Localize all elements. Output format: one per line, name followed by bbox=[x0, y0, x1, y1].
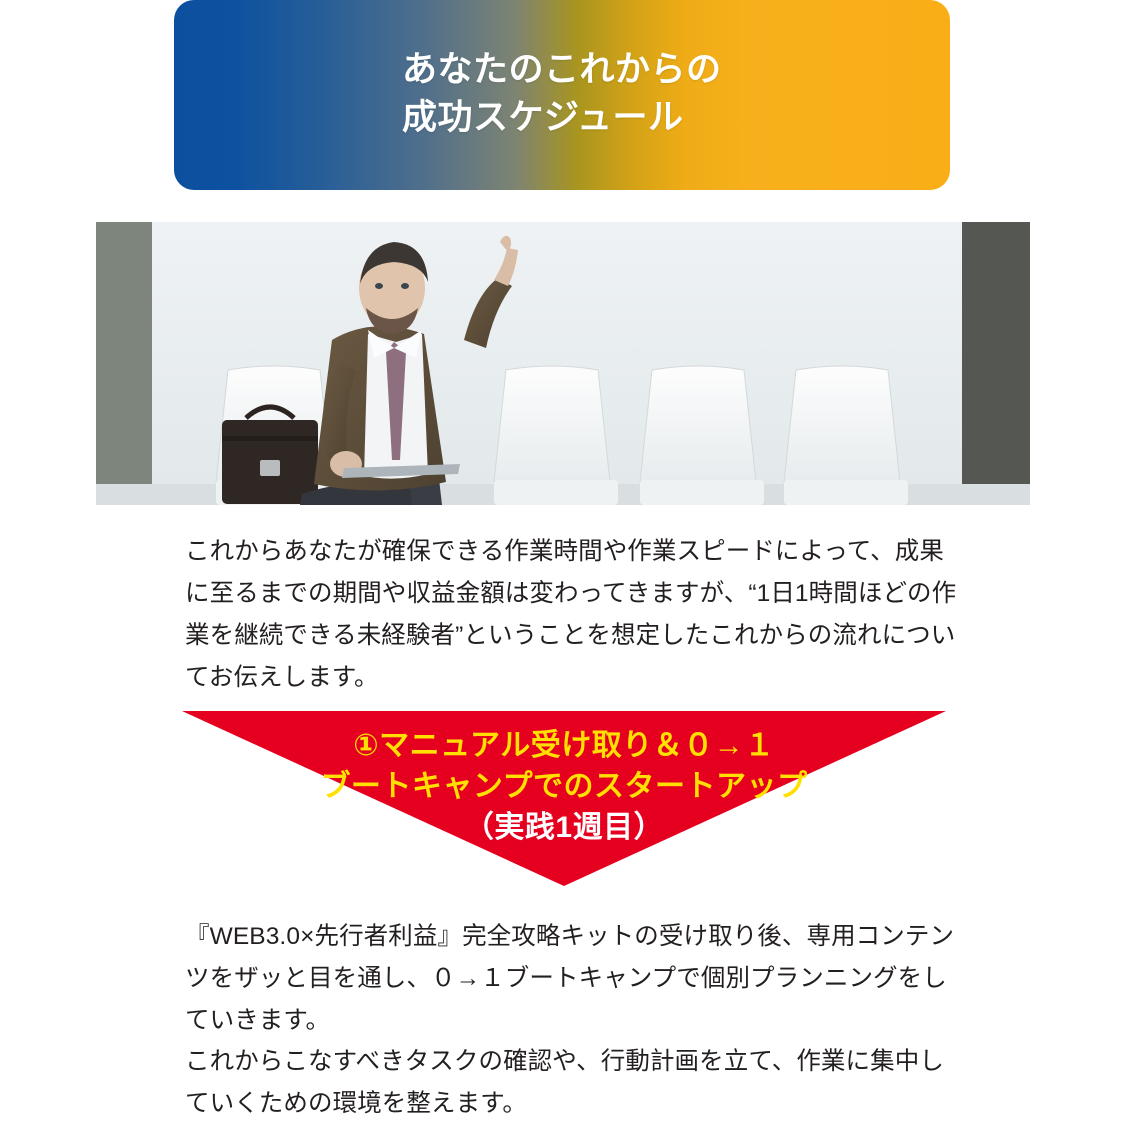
body-paragraph-b: これからこなすべきタスクの確認や、行動計画を立て、作業に集中していくための環境を… bbox=[185, 1041, 963, 1125]
page-title: あなたのこれからの 成功スケジュール bbox=[402, 46, 922, 143]
page-root: あなたのこれからの 成功スケジュール bbox=[0, 0, 1125, 1143]
callout-text-block: ①マニュアル受け取り＆０→１ ブートキャンプでのスタートアップ （実践1週目） bbox=[182, 725, 946, 848]
step-callout: ①マニュアル受け取り＆０→１ ブートキャンプでのスタートアップ （実践1週目） bbox=[182, 711, 946, 886]
callout-line-2: ブートキャンプでのスタートアップ bbox=[182, 766, 946, 807]
hero-photo bbox=[96, 222, 1030, 505]
hero-photo-illustration bbox=[96, 222, 1030, 505]
intro-paragraph: これからあなたが確保できる作業時間や作業スピードによって、成果に至るまでの期間や… bbox=[185, 531, 957, 699]
callout-line-3: （実践1週目） bbox=[182, 807, 946, 848]
header-banner: あなたのこれからの 成功スケジュール bbox=[174, 0, 950, 190]
briefcase-illustration bbox=[222, 407, 318, 504]
callout-line-1: ①マニュアル受け取り＆０→１ bbox=[182, 725, 946, 766]
body-paragraph-a: 『WEB3.0×先行者利益』完全攻略キットの受け取り後、専用コンテンツをザッと目… bbox=[185, 916, 963, 1042]
